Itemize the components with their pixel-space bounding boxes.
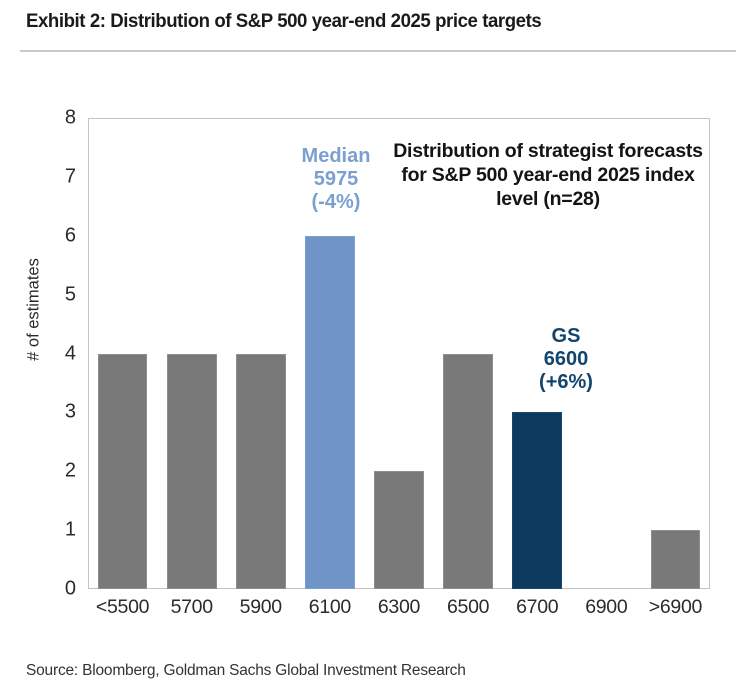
bar-5900[interactable] [236, 354, 286, 590]
x-tick-label: 6700 [503, 596, 572, 630]
y-tick-label: 7 [50, 165, 76, 188]
x-tick-label: 6100 [295, 596, 364, 630]
y-tick-label: 3 [50, 401, 76, 424]
y-axis-tick-labels: 012345678 [42, 118, 76, 589]
bar-6300[interactable] [374, 471, 424, 589]
bar-slot [88, 118, 157, 589]
x-tick-label: 5700 [157, 596, 226, 630]
x-tick-label: >6900 [641, 596, 710, 630]
bar-6100[interactable] [305, 236, 355, 589]
bar-chart: # of estimates 012345678 Median 5975 (-4… [0, 0, 755, 693]
bar-6500[interactable] [443, 354, 493, 590]
x-tick-label: 6300 [364, 596, 433, 630]
source-note: Source: Bloomberg, Goldman Sachs Global … [26, 662, 466, 680]
x-axis-tick-labels: <55005700590061006300650067006900>6900 [88, 596, 710, 630]
bar-slot [157, 118, 226, 589]
x-tick-label: 6900 [572, 596, 641, 630]
x-tick-label: <5500 [88, 596, 157, 630]
annotation-gs: GS 6600 (+6%) [490, 325, 642, 393]
y-tick-label: 6 [50, 224, 76, 247]
y-tick-label: 2 [50, 460, 76, 483]
y-tick-label: 0 [50, 578, 76, 601]
y-tick-label: 4 [50, 342, 76, 365]
bar-6900[interactable] [651, 530, 701, 589]
y-tick-label: 5 [50, 283, 76, 306]
x-tick-label: 6500 [434, 596, 503, 630]
bar-5500[interactable] [98, 354, 148, 590]
annotation-description: Distribution of strategist forecasts for… [392, 140, 704, 211]
bar-6700[interactable] [512, 412, 562, 589]
annotation-median: Median 5975 (-4%) [258, 145, 414, 213]
y-tick-label: 8 [50, 107, 76, 130]
bar-5700[interactable] [167, 354, 217, 590]
y-tick-label: 1 [50, 519, 76, 542]
x-tick-label: 5900 [226, 596, 295, 630]
y-axis-title: # of estimates [25, 210, 44, 410]
